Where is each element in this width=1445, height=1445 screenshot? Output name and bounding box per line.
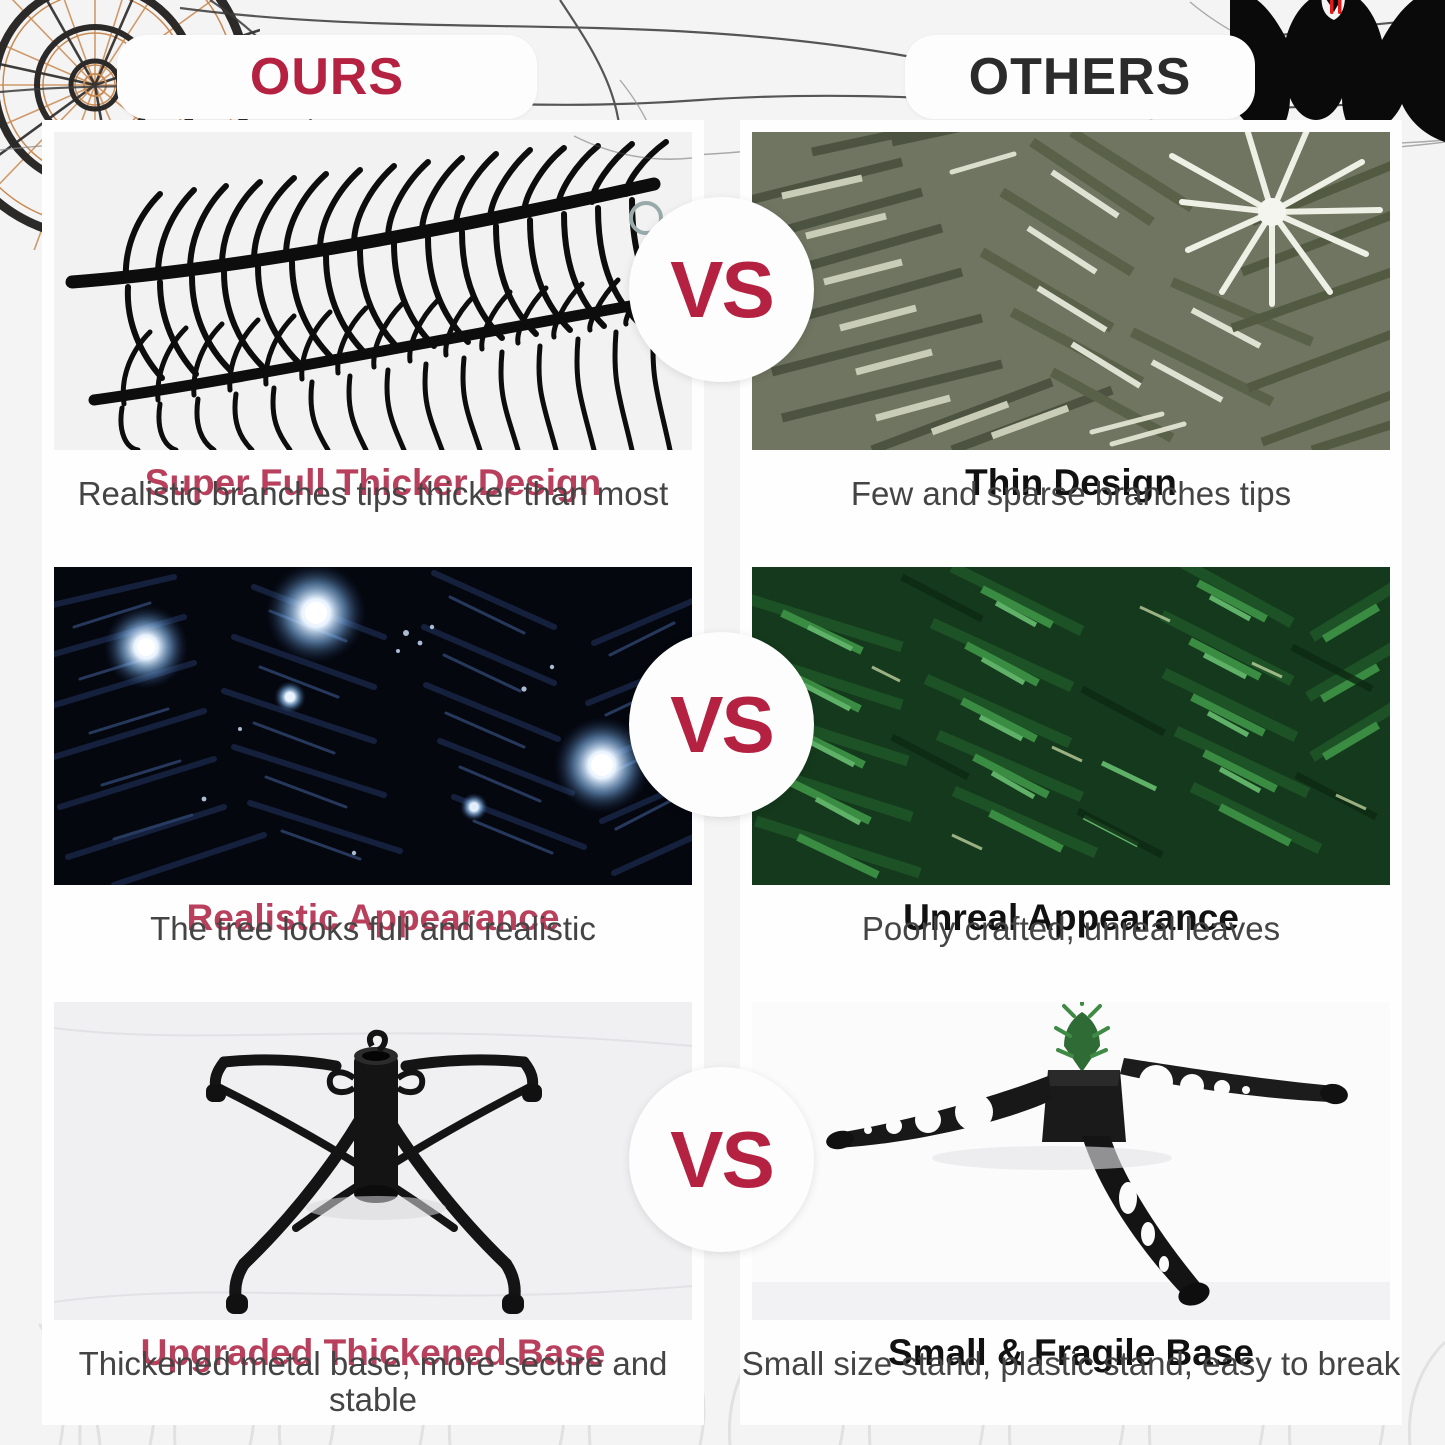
card-others-2: Unreal Appearance Poorly crafted, unreal…	[740, 555, 1402, 990]
vs-label: VS	[670, 1114, 773, 1206]
card-others-3: Small & Fragile Base Small size stand, p…	[740, 990, 1402, 1425]
caption-subtitle: The tree looks full and realistic	[42, 911, 704, 947]
photo-sparse-needles	[752, 132, 1390, 450]
caption-ours-2: Realistic Appearance The tree looks full…	[42, 899, 704, 947]
caption-others-2: Unreal Appearance Poorly crafted, unreal…	[740, 899, 1402, 947]
photo-black-tree-with-lights	[54, 567, 692, 885]
comparison-infographic: OURS OTHERS	[0, 0, 1445, 1445]
caption-ours-1: Super Full Thicker Design Realistic bran…	[42, 464, 704, 512]
caption-subtitle: Realistic branches tips thicker than mos…	[42, 476, 704, 512]
photo-plastic-tree-stand	[752, 1002, 1390, 1320]
vs-badge-row-3: VS	[629, 1067, 814, 1252]
vs-label: VS	[670, 679, 773, 771]
photo-black-pine-branch	[54, 132, 692, 450]
caption-others-1: Thin Design Few and sparse branches tips	[740, 464, 1402, 512]
card-ours-3: Upgraded Thickened Base Thickened metal …	[42, 990, 704, 1425]
caption-ours-3: Upgraded Thickened Base Thickened metal …	[42, 1334, 704, 1419]
card-others-1: Thin Design Few and sparse branches tips	[740, 120, 1402, 555]
caption-subtitle: Few and sparse branches tips	[740, 476, 1402, 512]
caption-subtitle: Poorly crafted, unreal leaves	[740, 911, 1402, 947]
photo-metal-tree-stand	[54, 1002, 692, 1320]
caption-others-3: Small & Fragile Base Small size stand, p…	[740, 1334, 1402, 1382]
caption-subtitle: Small size stand, plastic stand, easy to…	[740, 1346, 1402, 1382]
header-label-others: OTHERS	[969, 47, 1192, 107]
header-pill-others: OTHERS	[905, 35, 1255, 119]
card-ours-2: Realistic Appearance The tree looks full…	[42, 555, 704, 990]
header-label-ours: OURS	[250, 47, 404, 107]
vs-label: VS	[670, 244, 773, 336]
vs-badge-row-1: VS	[629, 197, 814, 382]
vs-badge-row-2: VS	[629, 632, 814, 817]
card-ours-1: Super Full Thicker Design Realistic bran…	[42, 120, 704, 555]
header-pill-ours: OURS	[117, 35, 537, 119]
caption-subtitle: Thickened metal base, more secure and st…	[42, 1346, 704, 1419]
photo-green-artificial-tree	[752, 567, 1390, 885]
